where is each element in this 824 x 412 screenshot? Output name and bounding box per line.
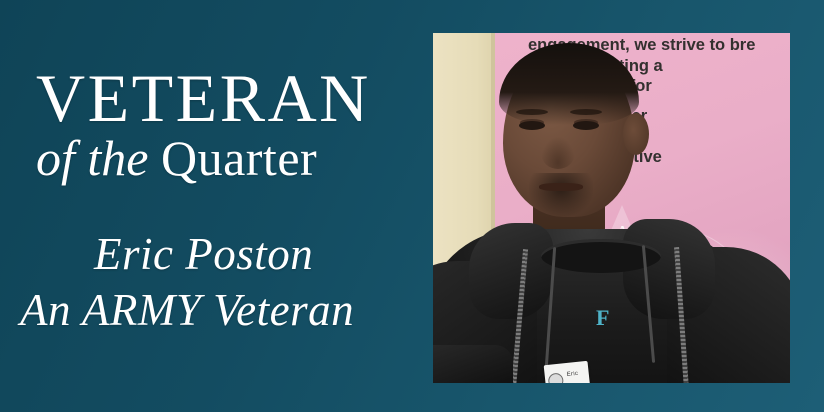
shirt-logo-icon: F (596, 307, 609, 329)
person-arm-left (433, 345, 513, 383)
honoree-name: Eric Poston (94, 232, 313, 277)
headline-quarter: Quarter (161, 130, 317, 186)
headline-of-the-quarter: of the Quarter (36, 133, 317, 183)
person-ear (623, 113, 649, 155)
badge-name-label: Eric (566, 371, 578, 378)
title-panel: VETERAN of the Quarter Eric Poston An AR… (0, 0, 425, 412)
person-eye-right (573, 121, 599, 130)
person-goatee (529, 173, 593, 217)
hoodie-lapel-left (469, 223, 553, 319)
person-eye-left (519, 121, 545, 130)
person-mouth (539, 183, 583, 191)
badge-seal-icon (548, 372, 564, 383)
id-badge: Eric (544, 361, 591, 383)
honoree-photo: engagement, we strive to bre tion, promo… (433, 33, 790, 383)
veteran-of-the-quarter-graphic: VETERAN of the Quarter Eric Poston An AR… (0, 0, 824, 412)
headline-veteran: VETERAN (36, 64, 371, 132)
honoree-branch: An ARMY Veteran (20, 288, 354, 333)
person-nose (541, 137, 575, 169)
headline-of-the: of the (36, 130, 161, 186)
person-eyebrow-right (570, 109, 602, 115)
person-eyebrow-left (516, 109, 548, 115)
person-portrait: F Eric (433, 33, 790, 383)
